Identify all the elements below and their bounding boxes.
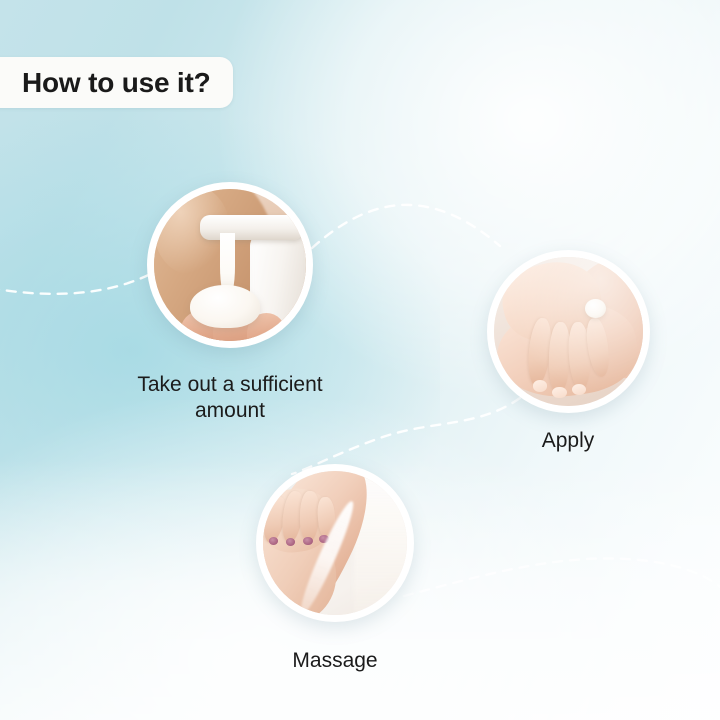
- page-title-badge: How to use it?: [0, 57, 233, 108]
- infographic-canvas: How to use it? Take out a sufficient amo…: [0, 0, 720, 720]
- step-2-caption: Apply: [463, 428, 673, 454]
- step-3-caption: Massage: [235, 648, 435, 674]
- step-1-caption: Take out a sufficient amount: [85, 372, 375, 425]
- step-2: [487, 250, 650, 413]
- connector-entry: [0, 266, 165, 294]
- connector-exit: [404, 558, 720, 596]
- step-2-image: [487, 250, 650, 413]
- step-1: [147, 182, 313, 348]
- step-1-image: [147, 182, 313, 348]
- page-title: How to use it?: [22, 67, 211, 99]
- connector-step1-step2: [312, 205, 500, 248]
- step-3: [256, 464, 414, 622]
- step-3-image: [256, 464, 414, 622]
